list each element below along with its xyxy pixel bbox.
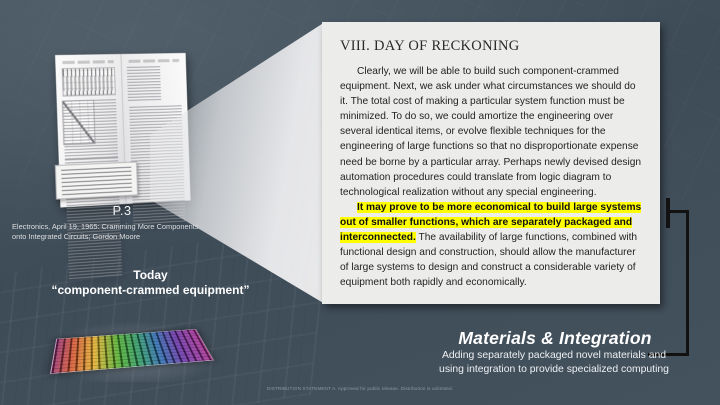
- materials-integration-subtitle: Adding separately packaged novel materia…: [398, 349, 710, 376]
- excerpt-paragraph-highlighted: It may prove to be more economical to bu…: [340, 200, 642, 291]
- magazine-text-column: [63, 99, 118, 159]
- excerpt-body: Clearly, we will be able to build such c…: [340, 64, 642, 290]
- magazine-running-head: [129, 59, 180, 63]
- today-quote: “component-crammed equipment”: [18, 283, 283, 298]
- excerpt-panel: VIII. DAY OF RECKONING Clearly, we will …: [322, 22, 660, 304]
- page-number-label: P.3: [62, 203, 182, 218]
- excerpt-heading: VIII. DAY OF RECKONING: [340, 38, 642, 55]
- excerpt-text-before-highlight: Clearly, we will be able to build such c…: [340, 66, 641, 198]
- materials-integration-title: Materials & Integration: [400, 328, 710, 349]
- excerpt-paragraph: Clearly, we will be able to build such c…: [340, 64, 642, 200]
- today-caption-block: Today “component-crammed equipment”: [18, 268, 283, 298]
- materials-integration-subtitle-line2: using integration to provide specialized…: [398, 363, 710, 377]
- magazine-highlighted-callout: [55, 161, 138, 199]
- today-label: Today: [18, 268, 283, 283]
- distribution-statement: DISTRIBUTION STATEMENT A. Approved for p…: [0, 386, 720, 391]
- materials-integration-subtitle-line1: Adding separately packaged novel materia…: [398, 349, 710, 363]
- silicon-die-image: [50, 329, 214, 374]
- bracket-tip: [666, 198, 670, 228]
- magazine-figure-block: [127, 66, 161, 101]
- magazine-cartoon-figure: [62, 67, 116, 96]
- magazine-running-head: [62, 60, 113, 64]
- source-citation: Electronics, April 19, 1965: Cramming Mo…: [12, 222, 202, 242]
- slide-canvas: VIII. DAY OF RECKONING Clearly, we will …: [0, 0, 720, 405]
